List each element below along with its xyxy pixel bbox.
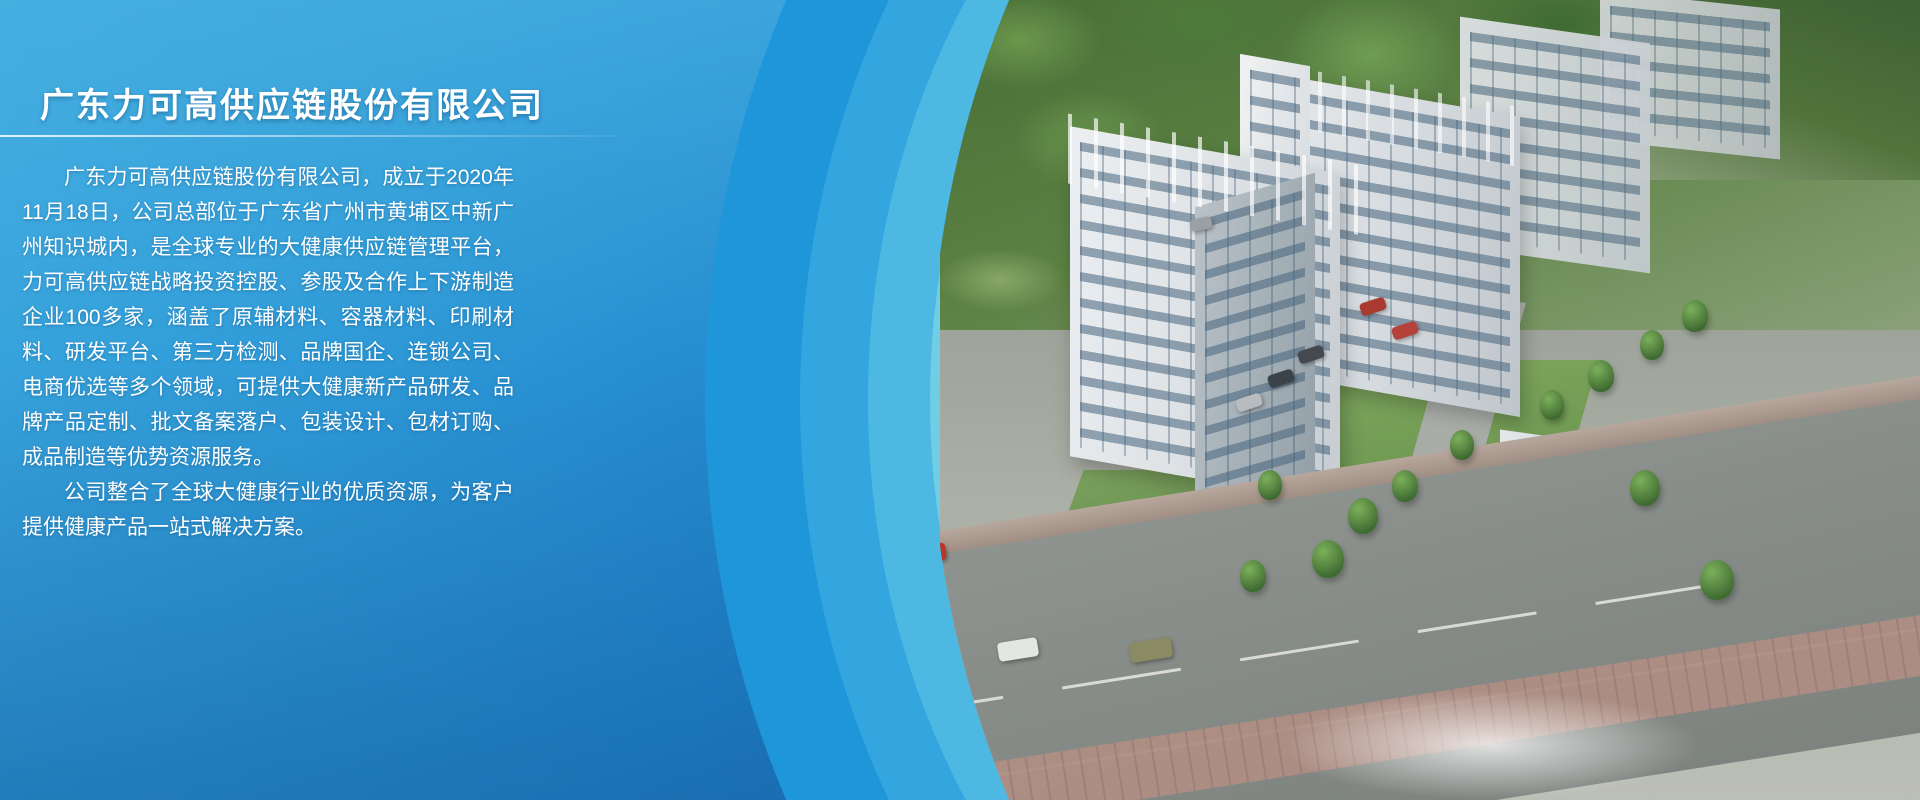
- tree: [1240, 560, 1266, 592]
- paragraph-2: 公司整合了全球大健康行业的优质资源，为客户提供健康产品一站式解决方案。: [22, 475, 514, 545]
- tree: [1540, 390, 1564, 420]
- tree: [1348, 498, 1378, 534]
- tree: [1640, 330, 1664, 360]
- body-text: 广东力可高供应链股份有限公司，成立于2020年11月18日，公司总部位于广东省广…: [22, 160, 514, 545]
- road-marking: [1595, 583, 1714, 605]
- paragraph-1: 广东力可高供应链股份有限公司，成立于2020年11月18日，公司总部位于广东省广…: [22, 160, 514, 475]
- tree: [1258, 470, 1282, 500]
- title-divider: [0, 135, 620, 137]
- mist-overlay: [1280, 690, 1700, 800]
- tree: [1700, 560, 1734, 600]
- tree: [1450, 430, 1474, 460]
- aerial-render-photo: [940, 0, 1920, 800]
- tree: [1312, 540, 1344, 578]
- page-title: 广东力可高供应链股份有限公司: [40, 78, 544, 127]
- tree: [1588, 360, 1614, 392]
- window-grid: [1205, 190, 1305, 505]
- tree: [1682, 300, 1708, 332]
- building-main-side-facade: [1195, 173, 1315, 517]
- tree: [1630, 470, 1660, 506]
- text-column: 广东力可高供应链股份有限公司 广东力可高供应链股份有限公司，成立于2020年11…: [0, 0, 640, 800]
- road-marking: [1240, 640, 1359, 662]
- road-marking: [1418, 611, 1537, 633]
- tree: [1392, 470, 1418, 502]
- company-intro-banner: 广东力可高供应链股份有限公司 广东力可高供应链股份有限公司，成立于2020年11…: [0, 0, 1920, 800]
- road-marking: [1062, 668, 1181, 690]
